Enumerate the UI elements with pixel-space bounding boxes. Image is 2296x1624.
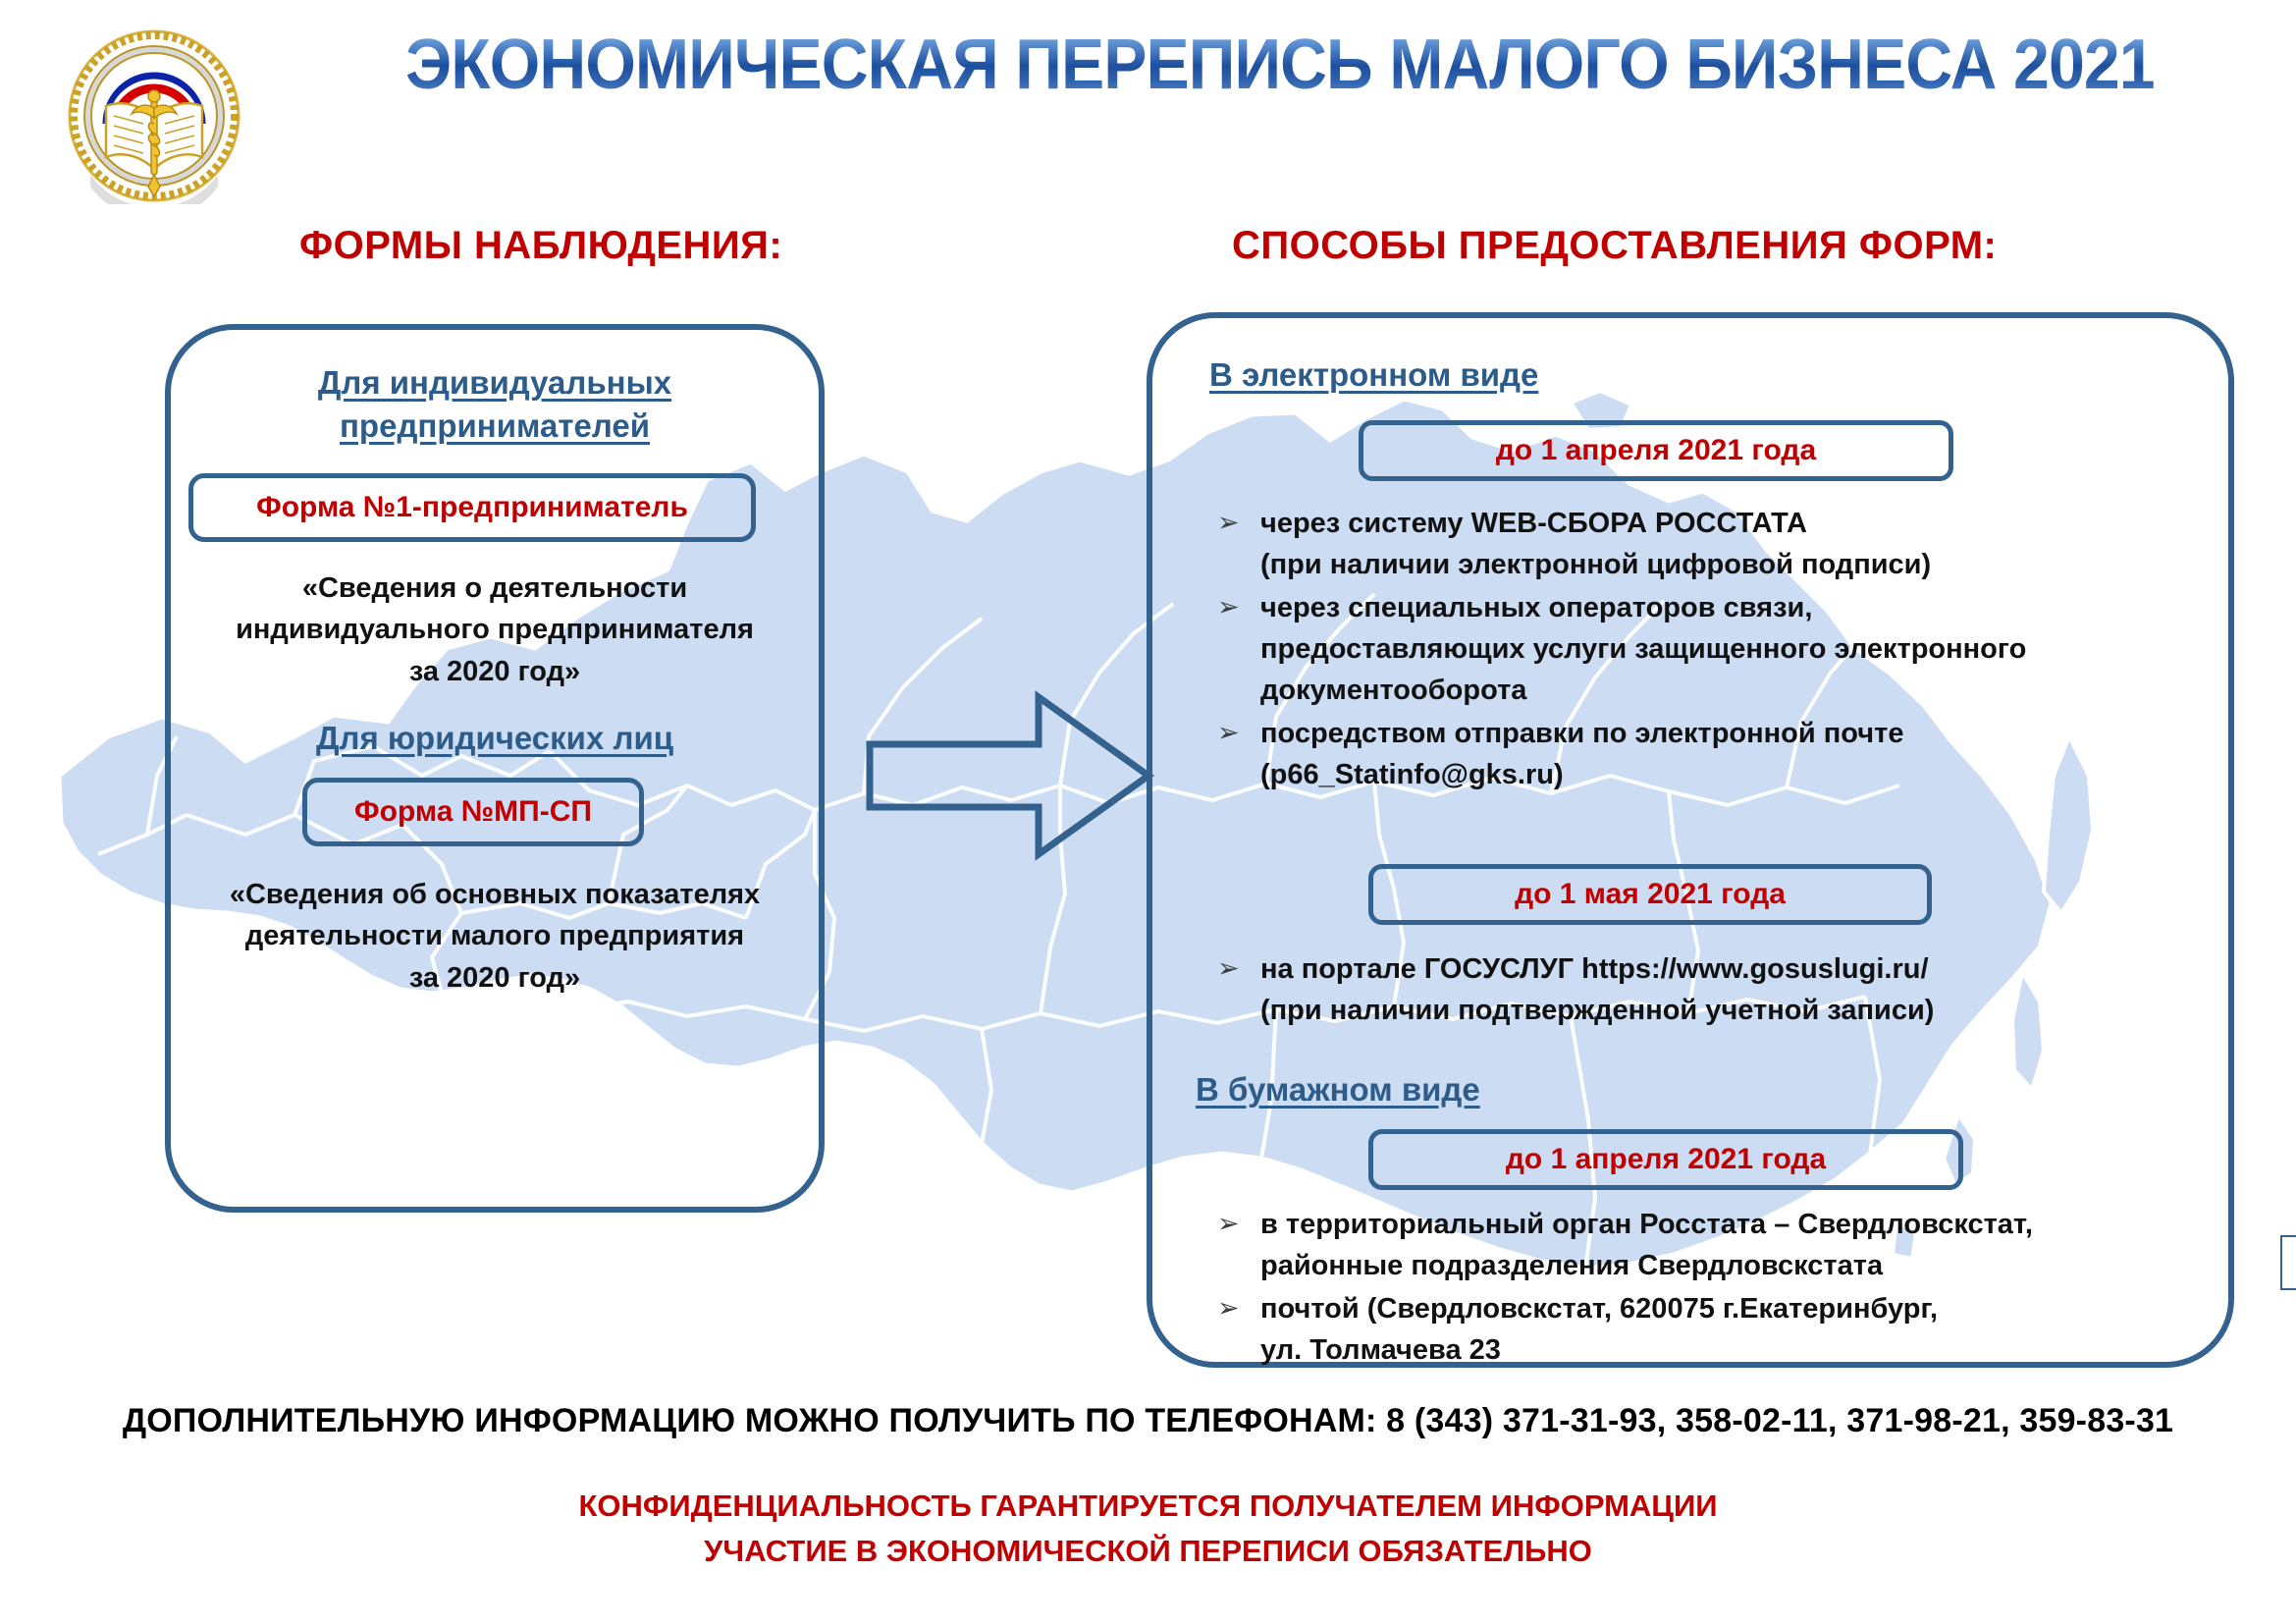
desc1-line-1: «Сведения о деятельности <box>302 572 687 604</box>
deadline-electronic-may: до 1 мая 2021 года <box>1515 878 1786 911</box>
list-item: ➢ посредством отправки по электронной по… <box>1209 713 2201 795</box>
footer-phones: ДОПОЛНИТЕЛЬНУЮ ИНФОРМАЦИЮ МОЖНО ПОЛУЧИТЬ… <box>0 1402 2296 1440</box>
deadline-box-electronic-april: до 1 апреля 2021 года <box>1359 420 1953 481</box>
edge-artifact <box>2280 1235 2296 1290</box>
forms-section-heading: ФОРМЫ НАБЛЮДЕНИЯ: <box>299 224 782 268</box>
list-item: ➢ через систему WEB-СБОРА РОССТАТА (при … <box>1209 503 2201 585</box>
forms-panel-content: Для индивидуальных предпринимателей Форм… <box>165 324 825 1213</box>
form-box-1-entrepreneur[interactable]: Форма №1-предприниматель <box>188 473 756 542</box>
bullet-arrow-icon: ➢ <box>1217 588 1240 626</box>
form-description-1: «Сведения о деятельности индивидуального… <box>177 568 813 692</box>
gosuslugi-list: ➢ на портале ГОСУСЛУГ https://www.gosusl… <box>1209 948 2201 1033</box>
subheading-line-3: Для юридических лиц <box>316 720 673 756</box>
subheading-electronic: В электронном виде <box>1209 353 1538 397</box>
ways-section-heading: СПОСОБЫ ПРЕДОСТАВЛЕНИЯ ФОРМ: <box>1232 224 1997 268</box>
deadline-box-paper-april: до 1 апреля 2021 года <box>1368 1129 1963 1190</box>
bullet-arrow-icon: ➢ <box>1217 504 1240 542</box>
electronic-methods-list: ➢ через систему WEB-СБОРА РОССТАТА (при … <box>1209 503 2201 797</box>
form-label-1: Форма №1-предприниматель <box>256 491 688 524</box>
bullet-4-line-2: (при наличии подтвержденной учетной запи… <box>1260 995 1934 1026</box>
deadline-electronic-april: до 1 апреля 2021 года <box>1496 434 1816 467</box>
bullet-2-line-3: документооборота <box>1260 675 1526 706</box>
bullet-6-line-2: ул. Толмачева 23 <box>1260 1334 1501 1366</box>
footer-participation: УЧАСТИЕ В ЭКОНОМИЧЕСКОЙ ПЕРЕПИСИ ОБЯЗАТЕ… <box>0 1534 2296 1569</box>
form-label-2: Форма №МП-СП <box>354 795 592 829</box>
right-arrow-icon <box>864 687 1158 864</box>
bullet-arrow-icon: ➢ <box>1217 1205 1240 1243</box>
paper-methods-list: ➢ в территориальный орган Росстата – Све… <box>1209 1204 2201 1373</box>
bullet-2-line-2: предоставляющих услуги защищенного элект… <box>1260 633 2026 665</box>
bullet-6-line-1: почтой (Свердловскстат, 620075 г.Екатери… <box>1260 1293 1938 1325</box>
bullet-arrow-icon: ➢ <box>1217 1289 1240 1327</box>
desc2-line-1: «Сведения об основных показателях <box>230 879 760 910</box>
deadline-paper-april: до 1 апреля 2021 года <box>1506 1143 1826 1176</box>
bullet-3-line-2: (p66_Statinfo@gks.ru) <box>1260 759 1564 790</box>
subheading-legal-entities: Для юридических лиц <box>165 717 825 760</box>
bullet-5-line-1: в территориальный орган Росстата – Сверд… <box>1260 1209 2033 1240</box>
bullet-3-line-1: посредством отправки по электронной почт… <box>1260 718 1903 749</box>
form-box-mp-sp[interactable]: Форма №МП-СП <box>302 778 644 846</box>
list-item: ➢ на портале ГОСУСЛУГ https://www.gosusl… <box>1209 948 2201 1031</box>
page-title: ЭКОНОМИЧЕСКАЯ ПЕРЕПИСЬ МАЛОГО БИЗНЕСА 20… <box>97 29 2296 100</box>
desc2-line-3: за 2020 год» <box>409 962 580 994</box>
bullet-arrow-icon: ➢ <box>1217 714 1240 752</box>
footer-confidentiality: КОНФИДЕНЦИАЛЬНОСТЬ ГАРАНТИРУЕТСЯ ПОЛУЧАТ… <box>0 1489 2296 1524</box>
bullet-1-line-1: через систему WEB-СБОРА РОССТАТА <box>1260 508 1807 539</box>
subheading-individual-entrepreneurs: Для индивидуальных предпринимателей <box>165 361 825 447</box>
list-item: ➢ через специальных операторов связи, пр… <box>1209 587 2201 711</box>
form-description-2: «Сведения об основных показателях деятел… <box>171 874 819 999</box>
desc1-line-3: за 2020 год» <box>409 656 580 687</box>
subheading-line-2: предпринимателей <box>340 407 650 444</box>
ways-panel-content: В электронном виде до 1 апреля 2021 года… <box>1147 312 2234 1368</box>
deadline-box-electronic-may: до 1 мая 2021 года <box>1368 864 1932 925</box>
list-item: ➢ в территориальный орган Росстата – Све… <box>1209 1204 2201 1286</box>
desc1-line-2: индивидуального предпринимателя <box>236 614 754 645</box>
subheading-line-1: Для индивидуальных <box>318 364 671 401</box>
list-item: ➢ почтой (Свердловскстат, 620075 г.Екате… <box>1209 1288 2201 1371</box>
bullet-2-line-1: через специальных операторов связи, <box>1260 592 1812 623</box>
bullet-1-line-2: (при наличии электронной цифровой подпис… <box>1260 549 1931 580</box>
bullet-arrow-icon: ➢ <box>1217 949 1240 988</box>
bullet-4-line-1[interactable]: на портале ГОСУСЛУГ https://www.gosuslug… <box>1260 953 1929 985</box>
bullet-5-line-2: районные подразделения Свердловскстата <box>1260 1250 1883 1281</box>
desc2-line-2: деятельности малого предприятия <box>245 920 744 951</box>
subheading-paper: В бумажном виде <box>1196 1068 1480 1111</box>
